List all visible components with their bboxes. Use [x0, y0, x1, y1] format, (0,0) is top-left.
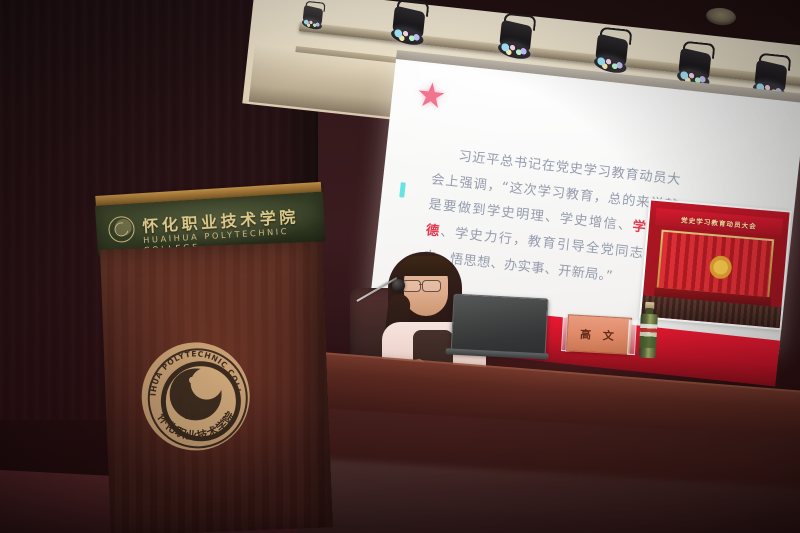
podium-body: 1939 HUAIHUA POLYTECHNIC COLLEGE 怀化职业技术学…	[100, 241, 333, 533]
laptop-icon[interactable]	[450, 294, 546, 361]
stage-par-light-icon	[593, 28, 632, 77]
hair-fringe	[400, 256, 452, 276]
seal-arc-top-text: HUAIHUA POLYTECHNIC COLLEGE	[140, 340, 243, 398]
name-card-text: 高 文	[566, 314, 632, 355]
teal-tick-icon	[399, 182, 406, 197]
photo-inner: 党史学习教育动员大会	[641, 201, 789, 329]
text-indent	[434, 158, 458, 161]
stage-par-light-icon	[301, 2, 325, 33]
photograph-scene: ★ 习近平总书记在党史学习教育动员大会上强调，“这次学习教育，总的来说就是要做到…	[0, 0, 800, 533]
laptop-lid	[451, 294, 549, 358]
eyeglasses-bridge	[419, 284, 423, 285]
microphone-icon	[392, 279, 405, 292]
green-tea-bottle-icon	[639, 302, 659, 359]
name-card: 高 文	[561, 314, 635, 356]
conference-hall-photo: 党史学习教育动员大会	[639, 198, 792, 330]
seal-arc-text: HUAIHUA POLYTECHNIC COLLEGE 怀化职业技术学院	[140, 340, 252, 452]
red-star-icon: ★	[413, 78, 450, 114]
bottle-label	[639, 324, 657, 349]
college-seal: 1939 HUAIHUA POLYTECHNIC COLLEGE 怀化职业技术学…	[140, 340, 252, 452]
seal-arc-bottom-text: 怀化职业技术学院	[155, 408, 239, 445]
stage-par-light-icon	[497, 14, 536, 63]
lectern-podium: 怀化职业技术学院 HUAIHUA POLYTECHNIC COLLEGE 193…	[88, 196, 326, 533]
stage-par-light-icon	[390, 0, 429, 49]
eyeglasses-right-lens	[422, 280, 441, 292]
